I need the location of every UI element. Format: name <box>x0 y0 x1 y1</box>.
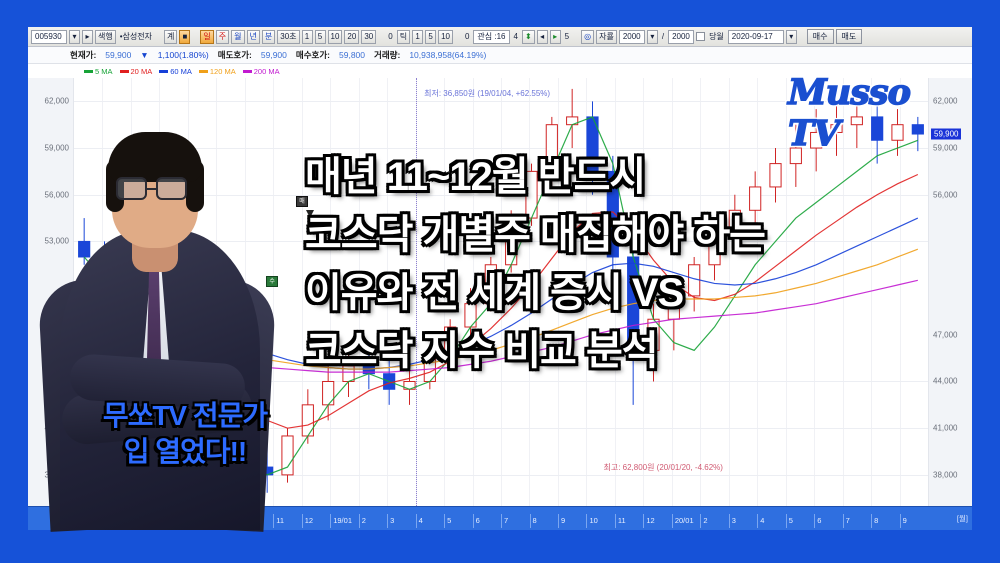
x-axis-tick: 5 <box>786 514 814 528</box>
x-axis-tick: 11 <box>615 514 643 528</box>
watchlist-label[interactable]: 관심 :16 <box>473 30 509 44</box>
current-price-label: 현재가: <box>70 49 96 61</box>
x-axis-tick: 3 <box>729 514 757 528</box>
minute-button-30[interactable]: 30 <box>361 30 376 44</box>
x-axis-tick: 8 <box>871 514 899 528</box>
y-axis-right-tick: 62,000 <box>933 97 957 106</box>
candlestick-series <box>74 78 928 506</box>
tick-button[interactable]: 틱 <box>397 30 410 44</box>
tick-zero-label-2: 0 <box>463 32 471 41</box>
next-page-icon[interactable]: ▸ <box>550 30 561 44</box>
period-button-week[interactable]: 주 <box>216 30 229 44</box>
refresh-icon[interactable]: ◎ <box>581 30 594 44</box>
data-label-button[interactable]: 자룔 <box>596 30 617 44</box>
x-axis-tick: 4 <box>74 514 102 528</box>
y-axis-left-tick: 44,000 <box>45 377 69 386</box>
ma-legend-label: 200 MA <box>254 67 280 76</box>
search-button[interactable]: 색행 <box>95 30 116 44</box>
data-count-input[interactable]: 2000 <box>619 30 645 44</box>
stock-code-value: 005930 <box>35 31 62 43</box>
sell-button[interactable]: 매도 <box>836 29 863 44</box>
tick-button-5[interactable]: 5 <box>425 30 436 44</box>
price-change-value: 1,100(1.80%) <box>158 50 209 60</box>
page-number: 5 <box>563 32 571 41</box>
chart-marker-sell[interactable]: 매 <box>296 196 308 207</box>
current-month-label: 당월 <box>707 31 726 42</box>
date-picker-icon[interactable]: ▾ <box>786 30 797 44</box>
ask-price-value: 59,900 <box>261 50 287 60</box>
y-axis-right-tick: 56,000 <box>933 190 957 199</box>
minute-button-10[interactable]: 10 <box>328 30 343 44</box>
ma-legend-label: 20 MA <box>131 67 153 76</box>
y-axis-left-tick: 62,000 <box>45 97 69 106</box>
minute-button-30s[interactable]: 30초 <box>277 30 299 44</box>
crosshair-line <box>416 78 417 506</box>
ask-price-label: 매도호가: <box>218 49 252 61</box>
x-axis-tick: 5 <box>102 514 130 528</box>
ma-legend-label: 5 MA <box>95 67 113 76</box>
ma-legend-item-120-ma: 120 MA <box>199 67 236 76</box>
y-axis-left-tick: 38,000 <box>45 470 69 479</box>
x-axis-tick: 12 <box>302 514 330 528</box>
ma-legend-item-200-ma: 200 MA <box>243 67 280 76</box>
x-axis-tick: 9 <box>900 514 928 528</box>
chart-plot-area[interactable]: 62,00059,00056,00053,00044,00041,00038,0… <box>28 78 972 506</box>
x-axis-tick: 9 <box>558 514 586 528</box>
bid-price-value: 59,800 <box>339 50 365 60</box>
x-axis-tick: 8 <box>188 514 216 528</box>
x-axis-tick: 3 <box>387 514 415 528</box>
x-axis-tick: 4 <box>757 514 785 528</box>
tick-button-10[interactable]: 10 <box>438 30 453 44</box>
x-axis-tick: 6 <box>473 514 501 528</box>
stock-name-label: •삼성전자 <box>118 31 154 42</box>
y-axis-right-tick: 59,000 <box>933 144 957 153</box>
minute-button-5[interactable]: 5 <box>315 30 326 44</box>
video-frame: 005930 ▾ ▸ 색행 •삼성전자 계 ■ 일 주 월 년 분 30초 1 … <box>0 0 1000 563</box>
data-count-dropdown-icon[interactable]: ▾ <box>647 30 658 44</box>
stock-code-input[interactable]: 005930 <box>31 30 67 44</box>
volume-label: 거래량: <box>374 49 400 61</box>
buy-button[interactable]: 매수 <box>807 29 834 44</box>
y-axis-right-tick: 44,000 <box>933 377 957 386</box>
x-axis-unit: [월] <box>957 513 968 524</box>
ma-legend-item-5-ma: 5 MA <box>84 67 113 76</box>
y-axis-left-tick: 53,000 <box>45 237 69 246</box>
y-axis-left-tick: 41,000 <box>45 424 69 433</box>
y-axis-right-tick: 47,000 <box>933 330 957 339</box>
x-axis-tick: 6 <box>131 514 159 528</box>
chart-toolbar[interactable]: 005930 ▾ ▸ 색행 •삼성전자 계 ■ 일 주 월 년 분 30초 1 … <box>28 27 972 47</box>
current-price-marker: 59,900 <box>931 129 961 140</box>
x-axis-tick: 2 <box>700 514 728 528</box>
minute-button-1[interactable]: 1 <box>302 30 313 44</box>
x-axis-tick: 2 <box>359 514 387 528</box>
high-annotation: 최고: 62,800원 (20/01/20, -4.62%) <box>603 462 722 473</box>
x-axis-tick: 7 <box>159 514 187 528</box>
x-axis-tick: 4 <box>416 514 444 528</box>
period-button-year[interactable]: 년 <box>247 30 260 44</box>
y-axis-left-tick: 59,000 <box>45 144 69 153</box>
slash-separator: / <box>660 32 666 41</box>
chart-marker-buy[interactable]: 수 <box>266 276 278 287</box>
low-annotation: 최저: 36,850원 (19/01/04, +62.55%) <box>424 88 550 99</box>
x-axis-tick: 6 <box>814 514 842 528</box>
prev-page-icon[interactable]: ◂ <box>537 30 548 44</box>
current-month-checkbox[interactable] <box>696 32 705 41</box>
ma-color-swatch-icon <box>199 70 208 73</box>
x-axis-tick: 10 <box>245 514 273 528</box>
chart-marker-arrow-icon <box>306 210 314 218</box>
ma-legend-item-60-ma: 60 MA <box>159 67 192 76</box>
x-axis-tick: 7 <box>843 514 871 528</box>
ma-legend-label: 60 MA <box>170 67 192 76</box>
x-axis-tick: 20/01 <box>672 514 700 528</box>
ma-color-swatch-icon <box>120 70 129 73</box>
hts-chart-window: 005930 ▾ ▸ 색행 •삼성전자 계 ■ 일 주 월 년 분 30초 1 … <box>28 27 972 530</box>
period-button-day[interactable]: 일 <box>200 30 213 44</box>
y-axis-left-tick: 56,000 <box>45 190 69 199</box>
x-axis-tick: 9 <box>216 514 244 528</box>
x-axis-tick: 10 <box>586 514 614 528</box>
ma-color-swatch-icon <box>84 70 93 73</box>
data-total-input[interactable]: 2000 <box>668 30 694 44</box>
x-axis-tick: 7 <box>501 514 529 528</box>
x-axis-tick: 11 <box>273 514 301 528</box>
tick-zero-label-1: 0 <box>386 32 394 41</box>
volume-value: 10,938,958(64.19%) <box>409 50 486 60</box>
minute-button-20[interactable]: 20 <box>344 30 359 44</box>
ma-color-swatch-icon <box>243 70 252 73</box>
date-input[interactable]: 2020-09-17 <box>728 30 784 44</box>
gye-button[interactable]: 계 <box>164 30 177 44</box>
ma-legend-item-20-ma: 20 MA <box>120 67 153 76</box>
bid-price-label: 매수호가: <box>296 49 330 61</box>
x-axis: 45678910111219/012345678910111220/012345… <box>28 506 972 530</box>
dropdown-arrow-icon[interactable]: ▾ <box>69 30 80 44</box>
x-axis-tick: 5 <box>444 514 472 528</box>
x-axis-tick: 19/01 <box>330 514 358 528</box>
current-price-value: 59,900 <box>105 50 131 60</box>
price-info-bar: 현재가: 59,900 ▼ 1,100(1.80%) 매도호가: 59,900 … <box>28 47 972 64</box>
tick-button-1[interactable]: 1 <box>412 30 423 44</box>
y-axis-right: 62,00059,00056,00047,00044,00041,00038,0… <box>928 78 972 506</box>
y-axis-left: 62,00059,00056,00053,00044,00041,00038,0… <box>28 78 74 506</box>
y-axis-right-tick: 41,000 <box>933 424 957 433</box>
period-button-month[interactable]: 월 <box>231 30 244 44</box>
x-axis-ticks: 45678910111219/012345678910111220/012345… <box>74 514 928 528</box>
next-arrow-icon[interactable]: ▸ <box>82 30 93 44</box>
chart-type-toggle[interactable]: ■ <box>179 30 190 44</box>
chart-canvas[interactable]: 최저: 36,850원 (19/01/04, +62.55%) 최고: 62,8… <box>74 78 928 506</box>
y-axis-right-tick: 38,000 <box>933 470 957 479</box>
ma-legend-label: 120 MA <box>210 67 236 76</box>
moving-average-legend: 5 MA20 MA60 MA120 MA200 MA <box>28 64 972 78</box>
x-axis-tick: 8 <box>530 514 558 528</box>
x-axis-tick: 12 <box>643 514 671 528</box>
period-button-minute[interactable]: 분 <box>262 30 275 44</box>
spinner-up-icon[interactable]: ⬍ <box>522 30 535 44</box>
watchlist-number: 4 <box>512 32 520 41</box>
price-change-arrow-icon: ▼ <box>140 50 148 60</box>
ma-color-swatch-icon <box>159 70 168 73</box>
